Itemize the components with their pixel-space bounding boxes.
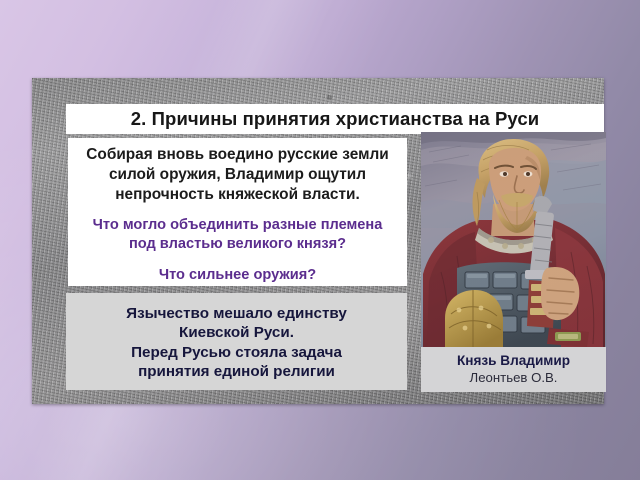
- question-group: Что могло объединить разные племена под …: [93, 216, 383, 285]
- conclusion-panel: Язычество мешало единству Киевской Руси.…: [66, 293, 407, 390]
- question-one-line-1: Что могло объединить разные племена: [93, 216, 383, 235]
- question-one-line-2: под властью великого князя?: [129, 235, 346, 254]
- portrait-illustration: [421, 132, 606, 347]
- conclusion-line-4: принятия единой религии: [138, 362, 335, 381]
- portrait-caption-author: Леонтьев О.В.: [470, 370, 558, 387]
- slide-content-area: 2. Причины принятия христианства на Руси…: [49, 92, 591, 388]
- page-title: 2. Причины принятия христианства на Руси: [131, 108, 539, 130]
- statement-line-2: силой оружия, Владимир ощутил: [109, 165, 366, 185]
- conclusion-line-1: Язычество мешало единству: [126, 304, 347, 323]
- portrait-caption-box: Князь Владимир Леонтьев О.В.: [421, 347, 606, 392]
- slide-stone-frame: 2. Причины принятия христианства на Руси…: [32, 78, 604, 404]
- portrait-panel: Князь Владимир Леонтьев О.В.: [421, 132, 606, 392]
- portrait-caption-name: Князь Владимир: [457, 353, 570, 370]
- portrait-prince-vladimir-image: [421, 132, 606, 347]
- question-two: Что сильнее оружия?: [159, 266, 316, 285]
- statement-panel: Собирая вновь воедино русские земли сило…: [68, 138, 407, 286]
- conclusion-line-2: Киевской Руси.: [179, 323, 294, 342]
- statement-line-1: Собирая вновь воедино русские земли: [86, 145, 388, 165]
- statement-line-3: непрочность княжеской власти.: [115, 185, 360, 205]
- conclusion-line-3: Перед Русью стояла задача: [131, 343, 342, 362]
- slide-title-box: 2. Причины принятия христианства на Руси: [66, 104, 604, 134]
